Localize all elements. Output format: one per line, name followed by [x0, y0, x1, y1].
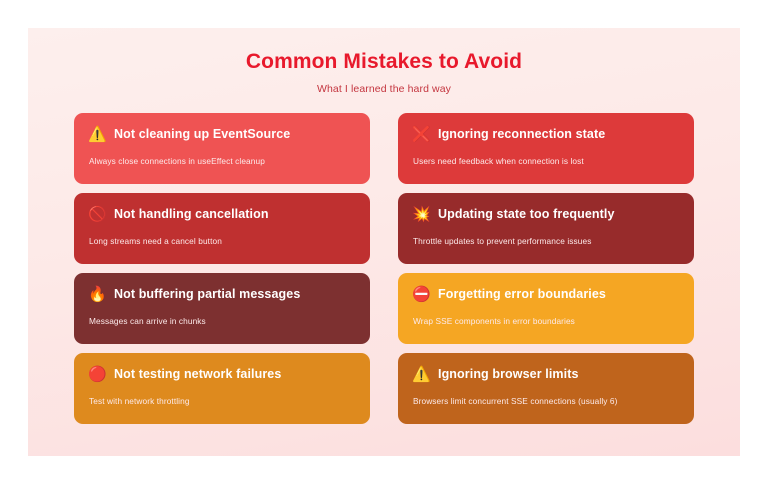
no-entry-icon: ⛔	[412, 287, 430, 302]
fire-icon: 🔥	[88, 287, 106, 302]
card-title: Not handling cancellation	[114, 207, 269, 221]
mistake-card[interactable]: ❌ Ignoring reconnection state Users need…	[398, 113, 694, 184]
warning-triangle-icon: ⚠️	[88, 127, 106, 142]
mistake-card[interactable]: 🔥 Not buffering partial messages Message…	[74, 273, 370, 344]
slide-panel: Common Mistakes to Avoid What I learned …	[28, 28, 740, 456]
card-header: 🔴 Not testing network failures	[88, 364, 356, 384]
card-description: Users need feedback when connection is l…	[412, 155, 680, 168]
warning-triangle-icon: ⚠️	[412, 367, 430, 382]
mistake-card[interactable]: 💥 Updating state too frequently Throttle…	[398, 193, 694, 264]
card-title: Not cleaning up EventSource	[114, 127, 290, 141]
card-title: Not buffering partial messages	[114, 287, 300, 301]
card-title: Ignoring reconnection state	[438, 127, 605, 141]
card-description: Messages can arrive in chunks	[88, 315, 356, 328]
page-subtitle: What I learned the hard way	[74, 74, 694, 95]
card-description: Long streams need a cancel button	[88, 235, 356, 248]
mistake-card[interactable]: ⛔ Forgetting error boundaries Wrap SSE c…	[398, 273, 694, 344]
card-header: ⚠️ Ignoring browser limits	[412, 364, 680, 384]
card-description: Browsers limit concurrent SSE connection…	[412, 395, 680, 408]
card-header: ⛔ Forgetting error boundaries	[412, 284, 680, 304]
page-title: Common Mistakes to Avoid	[74, 46, 694, 74]
mistake-card[interactable]: 🔴 Not testing network failures Test with…	[74, 353, 370, 424]
card-description: Wrap SSE components in error boundaries	[412, 315, 680, 328]
card-description: Throttle updates to prevent performance …	[412, 235, 680, 248]
collision-sparkle-icon: 💥	[412, 207, 430, 222]
card-header: 💥 Updating state too frequently	[412, 204, 680, 224]
card-description: Test with network throttling	[88, 395, 356, 408]
mistake-card[interactable]: 🚫 Not handling cancellation Long streams…	[74, 193, 370, 264]
prohibited-icon: 🚫	[88, 207, 106, 222]
mistake-card[interactable]: ⚠️ Not cleaning up EventSource Always cl…	[74, 113, 370, 184]
cross-mark-icon: ❌	[412, 127, 430, 142]
card-title: Ignoring browser limits	[438, 367, 579, 381]
mistake-card[interactable]: ⚠️ Ignoring browser limits Browsers limi…	[398, 353, 694, 424]
mistakes-grid: ⚠️ Not cleaning up EventSource Always cl…	[74, 113, 694, 424]
red-circle-icon: 🔴	[88, 367, 106, 382]
card-header: 🔥 Not buffering partial messages	[88, 284, 356, 304]
card-header: 🚫 Not handling cancellation	[88, 204, 356, 224]
card-description: Always close connections in useEffect cl…	[88, 155, 356, 168]
card-header: ❌ Ignoring reconnection state	[412, 124, 680, 144]
card-title: Not testing network failures	[114, 367, 281, 381]
card-title: Forgetting error boundaries	[438, 287, 606, 301]
card-header: ⚠️ Not cleaning up EventSource	[88, 124, 356, 144]
card-title: Updating state too frequently	[438, 207, 615, 221]
